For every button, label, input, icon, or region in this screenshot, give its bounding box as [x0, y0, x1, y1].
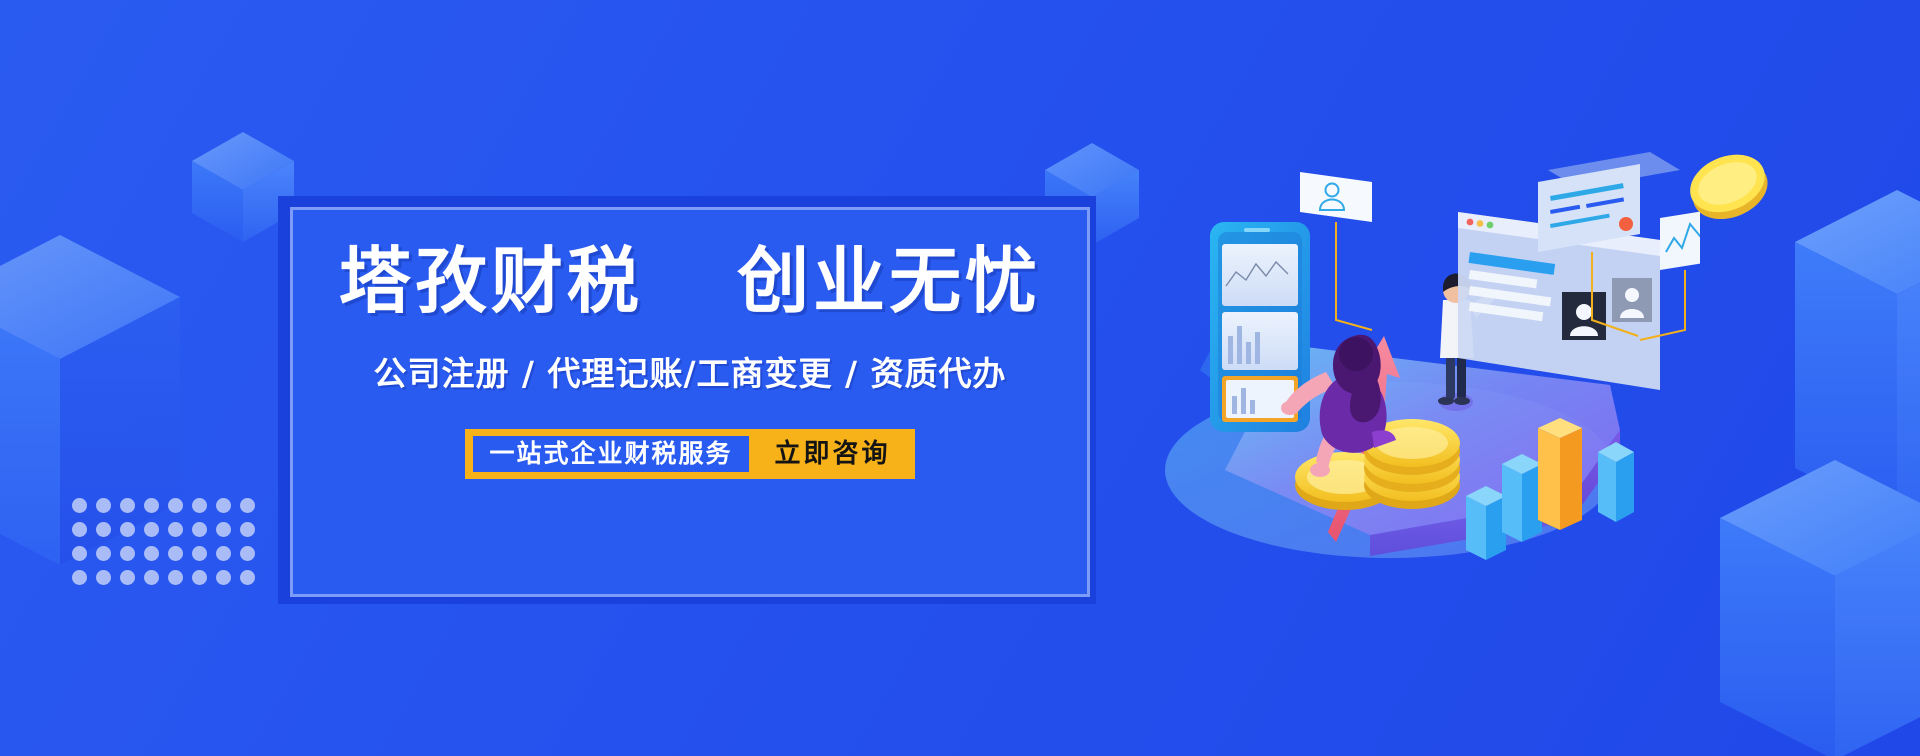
dot	[240, 522, 255, 537]
dot	[168, 522, 183, 537]
dot	[240, 546, 255, 561]
dot	[240, 498, 255, 513]
dot	[168, 546, 183, 561]
headline-sub: 创业无忧	[737, 239, 1041, 323]
bar-orange	[1538, 418, 1582, 530]
cube-right-lower-icon	[1720, 460, 1920, 756]
dot	[192, 570, 207, 585]
service-list-subtitle: 公司注册 / 代理记账/工商变更 / 资质代办	[373, 347, 1006, 395]
avatar-thumb-light	[1612, 278, 1652, 322]
cta-tagline: 一站式企业财税服务	[473, 436, 748, 472]
dot	[216, 546, 231, 561]
dot-grid-decoration	[72, 498, 264, 594]
page-title: 塔孜财税 创业无忧	[339, 245, 1041, 317]
dot	[216, 498, 231, 513]
headline-content: 塔孜财税 创业无忧 公司注册 / 代理记账/工商变更 / 资质代办 一站式企业财…	[290, 207, 1090, 597]
dot	[144, 522, 159, 537]
dot	[96, 522, 111, 537]
bar-cyan-3	[1598, 442, 1634, 522]
dot	[120, 522, 135, 537]
bar-cyan-1	[1466, 486, 1506, 560]
dot	[120, 546, 135, 561]
dot	[96, 498, 111, 513]
dot	[72, 570, 87, 585]
dot	[216, 522, 231, 537]
promo-banner: 塔孜财税 创业无忧 公司注册 / 代理记账/工商变更 / 资质代办 一站式企业财…	[0, 0, 1920, 756]
dot	[120, 570, 135, 585]
dot	[96, 570, 111, 585]
bar-cyan-2	[1502, 454, 1542, 542]
dot	[96, 546, 111, 561]
headline-main: 塔孜财税	[339, 239, 643, 323]
dot	[144, 570, 159, 585]
consult-now-button[interactable]: 立即咨询	[749, 429, 915, 479]
avatar-thumb-dark	[1562, 292, 1606, 340]
dot	[72, 522, 87, 537]
cta-bar[interactable]: 一站式企业财税服务 立即咨询	[465, 429, 914, 479]
cube-left-icon	[0, 235, 180, 565]
dot	[72, 498, 87, 513]
profile-card	[1300, 172, 1372, 330]
dot	[168, 498, 183, 513]
dot	[72, 546, 87, 561]
dot	[168, 570, 183, 585]
dot	[192, 546, 207, 561]
dot	[192, 498, 207, 513]
dot	[240, 570, 255, 585]
dot	[120, 498, 135, 513]
dot	[216, 570, 231, 585]
business-finance-illustration	[1140, 140, 1700, 570]
dot	[192, 522, 207, 537]
pillar-right-icon	[1795, 190, 1920, 520]
dot	[144, 546, 159, 561]
dot	[144, 498, 159, 513]
